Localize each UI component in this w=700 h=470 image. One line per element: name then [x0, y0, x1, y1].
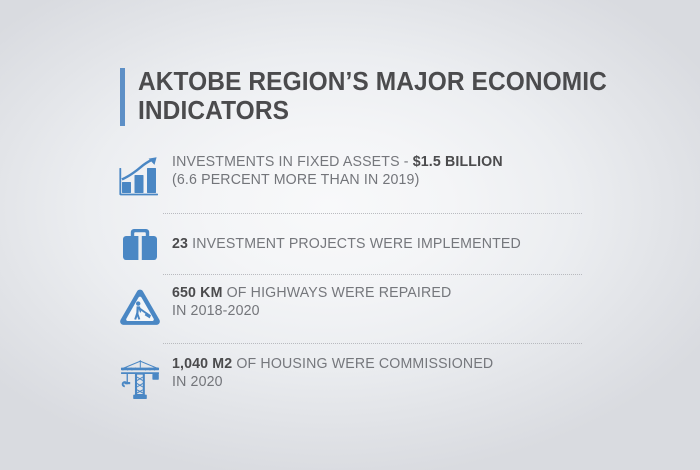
page-title: AKTOBE REGION’S MAJOR ECONOMIC INDICATOR… — [120, 68, 626, 126]
stat-line-1: INVESTMENTS IN FIXED ASSETS - $1.5 BILLI… — [172, 154, 578, 172]
row-divider — [163, 274, 582, 275]
infographic-canvas: AKTOBE REGION’S MAJOR ECONOMIC INDICATOR… — [0, 0, 700, 470]
stat-text: 1,040 M2 OF HOUSING WERE COMMISSIONED IN… — [172, 354, 578, 391]
title-accent-bar — [120, 68, 125, 126]
stat-line-2: IN 2018-2020 — [172, 303, 578, 321]
row-divider — [163, 343, 582, 344]
stat-line-1: 650 KM OF HIGHWAYS WERE REPAIRED — [172, 285, 578, 303]
list-item: INVESTMENTS IN FIXED ASSETS - $1.5 BILLI… — [108, 152, 584, 208]
list-item: 23 INVESTMENT PROJECTS WERE IMPLEMENTED — [108, 224, 584, 266]
stat-suffix: OF HOUSING WERE COMMISSIONED — [232, 356, 493, 372]
stat-highlight: 23 — [172, 236, 188, 252]
stat-highlight: $1.5 BILLION — [413, 154, 503, 170]
stat-highlight: 650 KM — [172, 285, 223, 301]
stat-suffix: INVESTMENT PROJECTS WERE IMPLEMENTED — [188, 236, 521, 252]
stat-highlight: 1,040 M2 — [172, 356, 232, 372]
briefcase-icon — [108, 220, 172, 270]
stat-prefix: INVESTMENTS IN FIXED ASSETS - — [172, 154, 413, 170]
stat-text: 650 KM OF HIGHWAYS WERE REPAIRED IN 2018… — [172, 283, 578, 320]
stats-list: INVESTMENTS IN FIXED ASSETS - $1.5 BILLI… — [108, 152, 584, 408]
title-line-2: INDICATORS — [138, 97, 607, 126]
list-item: 650 KM OF HIGHWAYS WERE REPAIRED IN 2018… — [108, 283, 584, 337]
list-item: 1,040 M2 OF HOUSING WERE COMMISSIONED IN… — [108, 354, 584, 408]
stat-line-2: (6.6 PERCENT MORE THAN IN 2019) — [172, 172, 578, 190]
roadwork-sign-icon — [108, 283, 172, 333]
stat-line-1: 23 INVESTMENT PROJECTS WERE IMPLEMENTED — [172, 236, 578, 254]
stat-line-2: IN 2020 — [172, 374, 578, 392]
construction-crane-icon — [108, 354, 172, 404]
stat-suffix: OF HIGHWAYS WERE REPAIRED — [223, 285, 452, 301]
title-text: AKTOBE REGION’S MAJOR ECONOMIC INDICATOR… — [138, 68, 607, 126]
stat-line-1: 1,040 M2 OF HOUSING WERE COMMISSIONED — [172, 356, 578, 374]
row-divider — [163, 213, 582, 214]
title-line-1: AKTOBE REGION’S MAJOR ECONOMIC — [138, 68, 607, 97]
stat-text: INVESTMENTS IN FIXED ASSETS - $1.5 BILLI… — [172, 152, 578, 189]
bar-chart-growth-icon — [108, 152, 172, 202]
stat-text: 23 INVESTMENT PROJECTS WERE IMPLEMENTED — [172, 236, 578, 254]
